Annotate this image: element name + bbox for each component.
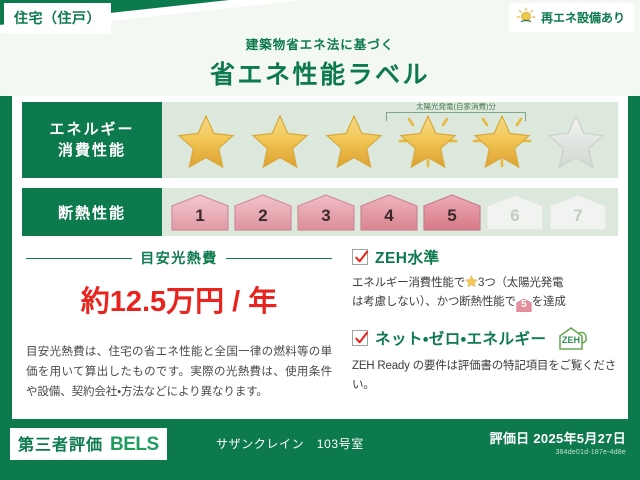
star-4 [392,110,464,172]
heading-rule-right [226,258,332,259]
check-icon [354,331,369,346]
star-1 [170,110,242,172]
net-zero-title: ネット・ゼロ・エネルギー [375,327,547,349]
utility-cost-amount: 約12.5万円 / 年 [26,278,332,320]
utility-cost-note: 目安光熱費は、住宅の省エネ性能と全国一律の燃料等の単価を用いて算出したものです。… [26,342,332,402]
building-name: サザンクレイン 103号室 [216,435,364,452]
zeh-level-checkbox[interactable] [352,249,368,265]
energy-performance-label: 住宅（住戸） 再エネ設備あり 建築物省エネ法に基づく 省エネ性能ラベル [0,0,640,480]
grade-2-value: 2 [258,206,267,226]
star-2 [244,110,316,172]
label-card: エネルギー 消費性能 太陽光発電(自家消費)分 [12,96,628,419]
heading-rule-left [26,258,132,259]
utility-cost-heading-text: 目安光熱費 [140,248,218,268]
zeh-level-title-row: ZEH水準 [352,246,620,268]
energy-performance-row: エネルギー 消費性能 太陽光発電(自家消費)分 [22,102,618,178]
bels-badge: 第三者評価 BELS [10,428,167,460]
energy-label-line2: 消費性能 [58,140,126,161]
insulation-performance-row: 断熱性能 1 [22,188,618,236]
zeh-level-block: ZEH水準 エネルギー消費性能で3つ（太陽光発電は考慮しない）、かつ断熱性能で5… [352,246,620,312]
star-5 [466,110,538,172]
grade-3-value: 3 [321,206,330,226]
grade-4: 4 [359,193,419,231]
title-main: 省エネ性能ラベル [0,55,640,91]
net-zero-checkbox[interactable] [352,330,368,346]
label-title: 建築物省エネ法に基づく 省エネ性能ラベル [0,34,640,91]
star-6-empty [540,110,612,172]
zeh-level-title: ZEH水準 [375,246,440,268]
grade-5: 5 [422,193,482,231]
grade-1-value: 1 [195,206,204,226]
star-3 [318,110,390,172]
bels-jp-label: 第三者評価 [18,431,103,455]
zeh-section: ZEH水準 エネルギー消費性能で3つ（太陽光発電は考慮しない）、かつ断熱性能で5… [352,246,620,408]
zeh-level-body-part1: エネルギー消費性能で [352,277,465,289]
zeh-level-body-part3: を達成 [532,296,566,308]
inline-star-icon [465,275,478,288]
renewable-equipment-badge: 再エネ設備あり [509,3,634,32]
net-zero-body: ZEH Ready の要件は評価書の特記項目をご覧ください。 [352,357,620,395]
utility-cost-heading: 目安光熱費 [26,248,332,268]
energy-label-line1: エネルギー [49,119,134,140]
utility-cost-section: 目安光熱費 約12.5万円 / 年 目安光熱費は、住宅の省エネ性能と全国一律の燃… [26,248,332,402]
title-subtitle: 建築物省エネ法に基づく [0,34,640,53]
building-type-tag: 住宅（住戸） [4,3,111,34]
zeh-house-logo-icon: ZEH [557,325,591,351]
renewable-badge-label: 再エネ設備あり [541,9,625,26]
bels-en-label: BELS [110,434,159,456]
grade-6: 6 [485,193,545,231]
insulation-label: 断熱性能 [58,202,126,223]
net-zero-block: ネット・ゼロ・エネルギー ZEH ZEH Ready の要件は評価書の特記項目を… [352,325,620,395]
evaluation-date: 評価日 2025年5月27日 [490,428,626,447]
grade-7: 7 [548,193,608,231]
check-icon [354,250,369,265]
inline-grade-badge: 5 [516,298,532,312]
grade-3: 3 [296,193,356,231]
zeh-level-body: エネルギー消費性能で3つ（太陽光発電は考慮しない）、かつ断熱性能で5を達成 [352,274,620,312]
insulation-grade-scale: 1 2 [170,193,608,231]
net-zero-title-row: ネット・ゼロ・エネルギー ZEH [352,325,620,351]
evaluation-info: 評価日 2025年5月27日 384de01d-187e-4d8e [490,428,626,456]
grade-4-value: 4 [384,206,393,226]
energy-performance-label-box: エネルギー 消費性能 [22,102,162,178]
sun-icon [516,7,536,27]
grade-1: 1 [170,193,230,231]
label-footer: 第三者評価 BELS サザンクレイン 103号室 評価日 2025年5月27日 … [0,424,640,480]
grade-2: 2 [233,193,293,231]
zeh-level-body-part2: は考慮しない）、かつ断熱性能で [352,296,516,308]
grade-6-value: 6 [510,206,519,226]
grade-5-value: 5 [447,206,456,226]
star-rating [170,110,612,172]
zeh-level-body-star: 3つ（太陽光発電 [478,277,563,289]
grade-7-value: 7 [573,206,582,226]
insulation-grades-panel: 1 2 [162,188,618,236]
inline-grade-value: 5 [521,299,526,310]
insulation-performance-label-box: 断熱性能 [22,188,162,236]
energy-performance-stars-panel: 太陽光発電(自家消費)分 [162,102,618,178]
svg-text:ZEH: ZEH [562,335,580,345]
evaluation-id: 384de01d-187e-4d8e [490,449,626,456]
